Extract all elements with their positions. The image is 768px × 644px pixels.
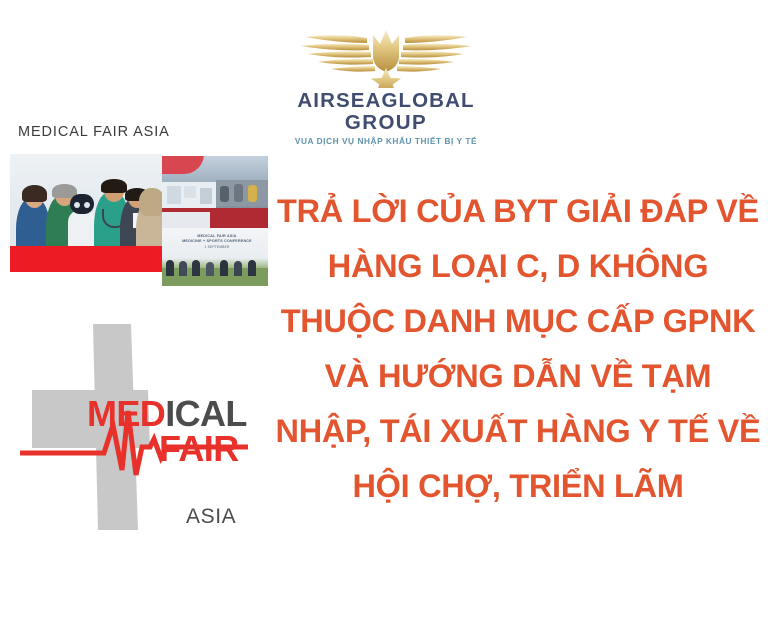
brand-name-line1: AIRSEAGLOBAL — [286, 90, 486, 112]
headline-line-2: HÀNG LOẠI C, D KHÔNG — [268, 239, 768, 294]
headline-line-5: NHẬP, TÁI XUẤT HÀNG Y TẾ VỀ — [268, 404, 768, 459]
eagle-wings-star-emblem-icon — [295, 22, 477, 88]
logo-word-medical: MEDICAL — [87, 396, 247, 432]
banner-title: MEDICAL FAIR ASIA — [18, 124, 170, 140]
headline-line-1: TRẢ LỜI CỦA BYT GIẢI ĐÁP VỀ — [268, 184, 768, 239]
photo-exhibition-hall — [162, 156, 268, 228]
headline-line-4: VÀ HƯỚNG DẪN VỀ TẠM — [268, 349, 768, 404]
headline-line-6: HỘI CHỢ, TRIỂN LÃM — [268, 459, 768, 514]
logo-word-asia: ASIA — [186, 506, 236, 527]
banner-photo-collage: MEDICAL FAIR ASIA MEDICINE + SPORTS CONF… — [10, 154, 268, 286]
photo-conference-audience: MEDICAL FAIR ASIA MEDICINE + SPORTS CONF… — [162, 228, 268, 286]
airseaglobal-logo: AIRSEAGLOBAL GROUP VUA DỊCH VỤ NHẬP KHẨU… — [286, 22, 486, 146]
headline-line-3: THUỘC DANH MỤC CẤP GPNK — [268, 294, 768, 349]
medical-fair-asia-banner: MEDICAL FAIR ASIA — [10, 116, 268, 286]
brand-name-line2: GROUP — [286, 112, 486, 134]
headline: TRẢ LỜI CỦA BYT GIẢI ĐÁP VỀ HÀNG LOẠI C,… — [268, 184, 768, 514]
photo-healthcare-team — [10, 154, 162, 272]
banner-caption: MEDICAL FAIR ASIA MEDICINE + SPORTS CONF… — [170, 234, 264, 250]
banner-red-bar — [10, 246, 162, 272]
logo-word-fair: FAIR — [159, 431, 239, 467]
brand-tagline: VUA DỊCH VỤ NHẬP KHẨU THIẾT BỊ Y TẾ — [286, 136, 486, 146]
